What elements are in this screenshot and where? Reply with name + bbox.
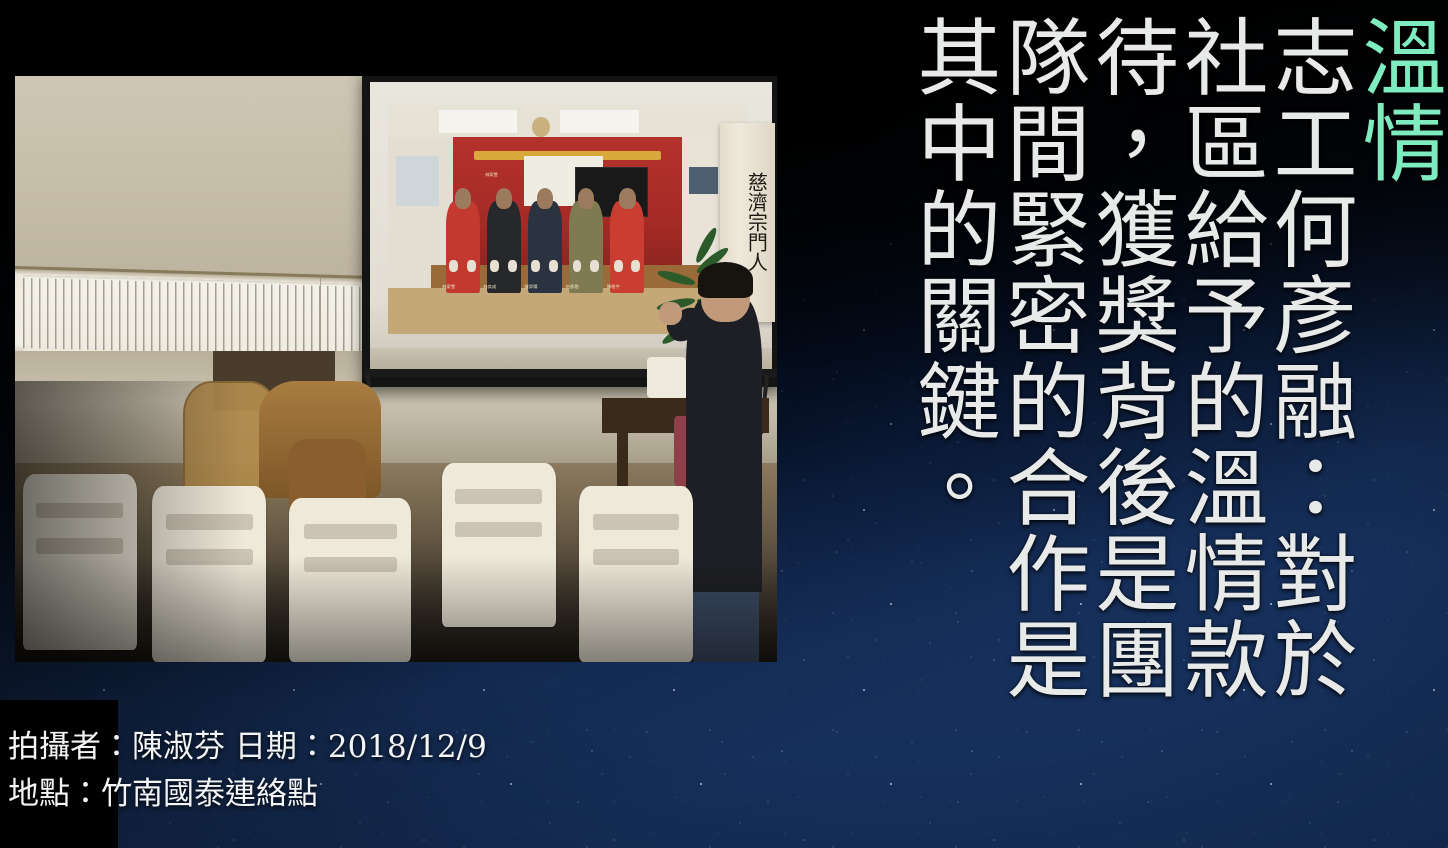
text-column-4: 待，獲獎背後是團 — [1086, 0, 1175, 702]
slide-name-5: 陳柏宇 — [607, 284, 620, 290]
slide-person-4 — [569, 201, 603, 292]
text-column-6: 其中的關鍵。 — [908, 0, 997, 530]
photo-bottom-shadow — [15, 557, 777, 662]
photo-presenter-hand — [659, 302, 682, 325]
slide-name-4: 何彥融 — [566, 284, 579, 290]
slide-name-2: 林奕成 — [483, 284, 496, 290]
slide-name-3: 陳羿陽 — [524, 284, 537, 290]
text-column-title: 溫情 — [1353, 0, 1442, 186]
photo-presenter-hair — [698, 262, 753, 297]
caption-line-location: 地點：竹南國泰連絡點 — [8, 771, 487, 818]
photo-calligraphy-seam — [320, 275, 321, 351]
photo-stacked-cups — [647, 357, 685, 398]
photo-presenter-body — [686, 299, 762, 592]
slide-person-2 — [487, 201, 521, 292]
event-photo: 林家瑩 林家瑩 林奕成 陳羿陽 何彥融 陳柏宇 慈濟宗門人 — [15, 76, 777, 662]
slide-ceiling-panel-right — [560, 110, 639, 133]
vertical-text-block: 其中的關鍵。 隊間緊密的合作是 待，獲獎背後是團 社區給予的溫情款 志工何彥融：… — [908, 0, 1448, 848]
slide-ceiling-panel-left — [439, 110, 518, 133]
slide-person-3 — [528, 201, 562, 292]
slide-window — [396, 156, 439, 206]
slide-person-1 — [446, 201, 480, 292]
slide-person-5 — [610, 201, 644, 292]
slide-ceiling-lamp — [532, 117, 550, 138]
slide-top-name-tag: 林家瑩 — [485, 172, 498, 178]
caption-line-photographer: 拍攝者：陳淑芬 日期：2018/12/9 — [8, 724, 487, 771]
slide-speaker-box — [689, 167, 718, 194]
text-column-3: 社區給予的溫情款 — [1175, 0, 1264, 702]
slide-canvas: 林家瑩 林家瑩 林奕成 陳羿陽 何彥融 陳柏宇 慈濟宗門人 — [0, 0, 1448, 848]
text-column-2: 志工何彥融：對於 — [1264, 0, 1353, 702]
text-column-5: 隊間緊密的合作是 — [997, 0, 1086, 702]
caption-block: 拍攝者：陳淑芬 日期：2018/12/9 地點：竹南國泰連絡點 — [8, 724, 487, 818]
slide-name-1: 林家瑩 — [442, 284, 455, 290]
